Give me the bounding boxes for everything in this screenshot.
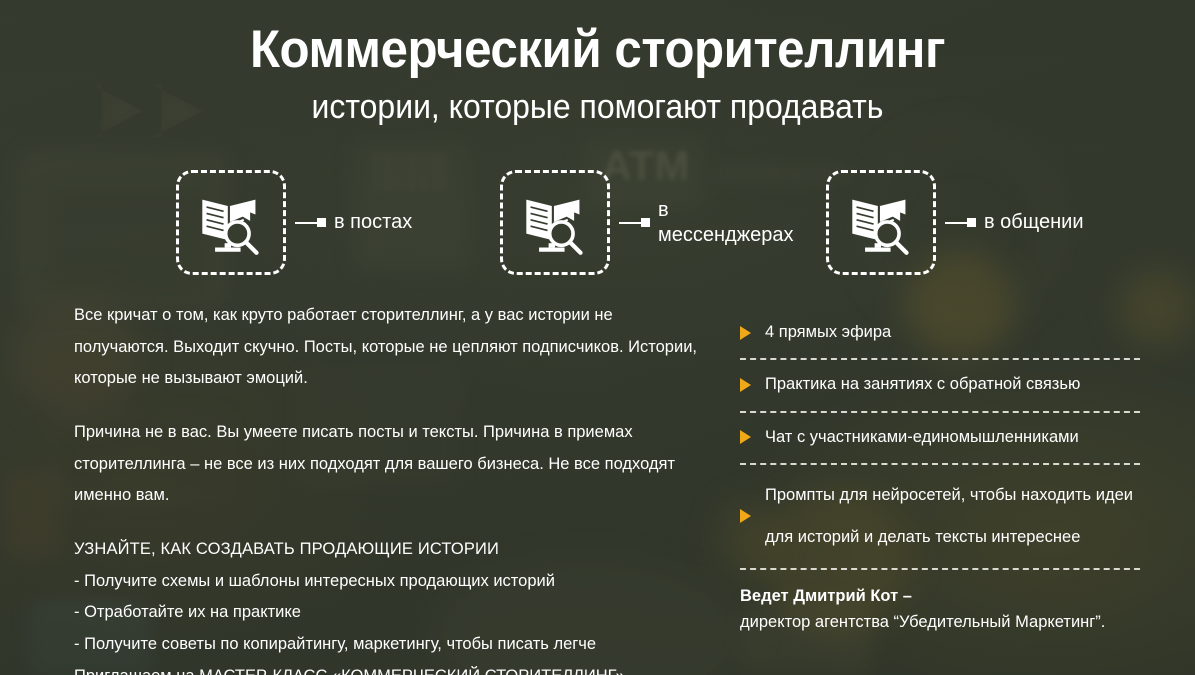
book-search-icon bbox=[197, 189, 265, 257]
benefits-block: УЗНАЙТЕ, КАК СОЗДАВАТЬ ПРОДАЮЩИЕ ИСТОРИИ… bbox=[74, 534, 704, 675]
separator bbox=[740, 463, 1140, 465]
triangle-bullet-icon bbox=[740, 509, 751, 523]
badge-connector bbox=[295, 218, 326, 227]
benefit-item: - Получите схемы и шаблоны интересных пр… bbox=[74, 566, 704, 598]
badge-label: в общении bbox=[984, 210, 1084, 234]
feature-item[interactable]: Практика на занятиях с обратной связью bbox=[740, 360, 1140, 410]
presenter-role: директор агентства “Убедительный Маркети… bbox=[740, 610, 1140, 636]
book-search-icon bbox=[847, 189, 915, 257]
feature-item[interactable]: Чат с участниками-единомышленниками bbox=[740, 413, 1140, 463]
triangle-bullet-icon bbox=[740, 378, 751, 392]
connector-dot bbox=[317, 218, 326, 227]
poster-content: Коммерческий сторителлинг истории, котор… bbox=[0, 0, 1195, 675]
badge-box bbox=[826, 170, 936, 275]
presenter-block: Ведет Дмитрий Кот – директор агентства “… bbox=[740, 570, 1140, 635]
badge-label: в постах bbox=[334, 210, 412, 234]
separator bbox=[740, 411, 1140, 413]
benefit-item: - Отработайте их на практике bbox=[74, 597, 704, 629]
separator bbox=[740, 358, 1140, 360]
badges-row: в постах bbox=[0, 170, 1195, 280]
feature-label: 4 прямых эфира bbox=[765, 317, 891, 348]
badge-connector bbox=[619, 218, 650, 227]
connector-dot bbox=[967, 218, 976, 227]
closing-line: Приглашаем на МАСТЕР-КЛАСС «КОММЕРЧЕСКИЙ… bbox=[74, 661, 704, 675]
presenter-name: Ведет Дмитрий Кот – bbox=[740, 584, 1140, 610]
badge-item-posts[interactable]: в постах bbox=[176, 170, 412, 275]
connector-line bbox=[619, 222, 641, 224]
left-column: Все кричат о том, как круто работает сто… bbox=[74, 300, 704, 675]
feature-label: Промпты для нейросетей, чтобы находить и… bbox=[765, 474, 1140, 558]
intro-paragraph-1: Все кричат о том, как круто работает сто… bbox=[74, 300, 704, 395]
connector-line bbox=[295, 222, 317, 224]
feature-label: Практика на занятиях с обратной связью bbox=[765, 369, 1080, 400]
header: Коммерческий сторителлинг истории, котор… bbox=[0, 0, 1195, 127]
page-subtitle: истории, которые помогают продавать bbox=[36, 88, 1159, 127]
feature-label: Чат с участниками-единомышленниками bbox=[765, 422, 1079, 453]
book-search-icon bbox=[521, 189, 589, 257]
connector-line bbox=[945, 222, 967, 224]
badge-connector bbox=[945, 218, 976, 227]
right-column: 4 прямых эфира Практика на занятиях с об… bbox=[740, 308, 1140, 635]
triangle-bullet-icon bbox=[740, 326, 751, 340]
badge-box bbox=[176, 170, 286, 275]
separator bbox=[740, 568, 1140, 570]
triangle-bullet-icon bbox=[740, 430, 751, 444]
badge-item-communication[interactable]: в общении bbox=[826, 170, 1084, 275]
intro-paragraph-2: Причина не в вас. Вы умеете писать посты… bbox=[74, 417, 704, 512]
connector-dot bbox=[641, 218, 650, 227]
badge-label: в мессенджерах bbox=[658, 198, 778, 247]
benefits-heading: УЗНАЙТЕ, КАК СОЗДАВАТЬ ПРОДАЮЩИЕ ИСТОРИИ bbox=[74, 534, 704, 566]
benefit-item: - Получите советы по копирайтингу, марке… bbox=[74, 629, 704, 661]
badge-box bbox=[500, 170, 610, 275]
page-title: Коммерческий сторителлинг bbox=[42, 22, 1153, 78]
feature-item[interactable]: 4 прямых эфира bbox=[740, 308, 1140, 358]
feature-item[interactable]: Промпты для нейросетей, чтобы находить и… bbox=[740, 465, 1140, 568]
badge-item-messengers[interactable]: в мессенджерах bbox=[500, 170, 778, 275]
